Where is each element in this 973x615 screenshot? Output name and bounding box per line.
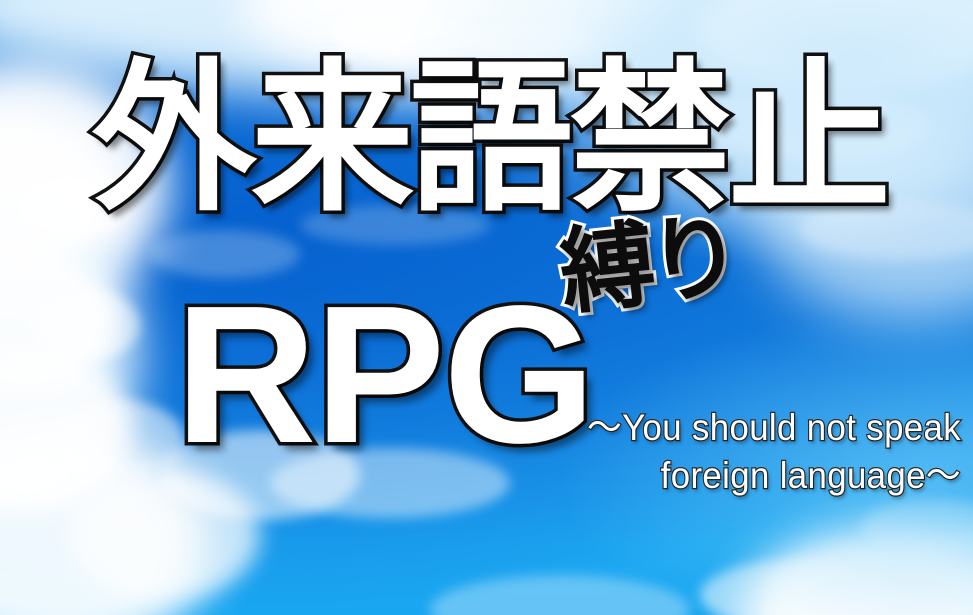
english-subtitle-line-2: foreign language〜 (566, 452, 961, 500)
english-subtitle: 〜You should not speak foreign language〜 (566, 404, 961, 500)
english-subtitle-line-1: 〜You should not speak (566, 404, 961, 452)
rpg-title: RPG (175, 277, 594, 473)
main-title-japanese: 外来語禁止 (92, 58, 887, 221)
thumbnail-canvas: 外来語禁止 縛り RPG 〜You should not speak forei… (0, 0, 973, 615)
